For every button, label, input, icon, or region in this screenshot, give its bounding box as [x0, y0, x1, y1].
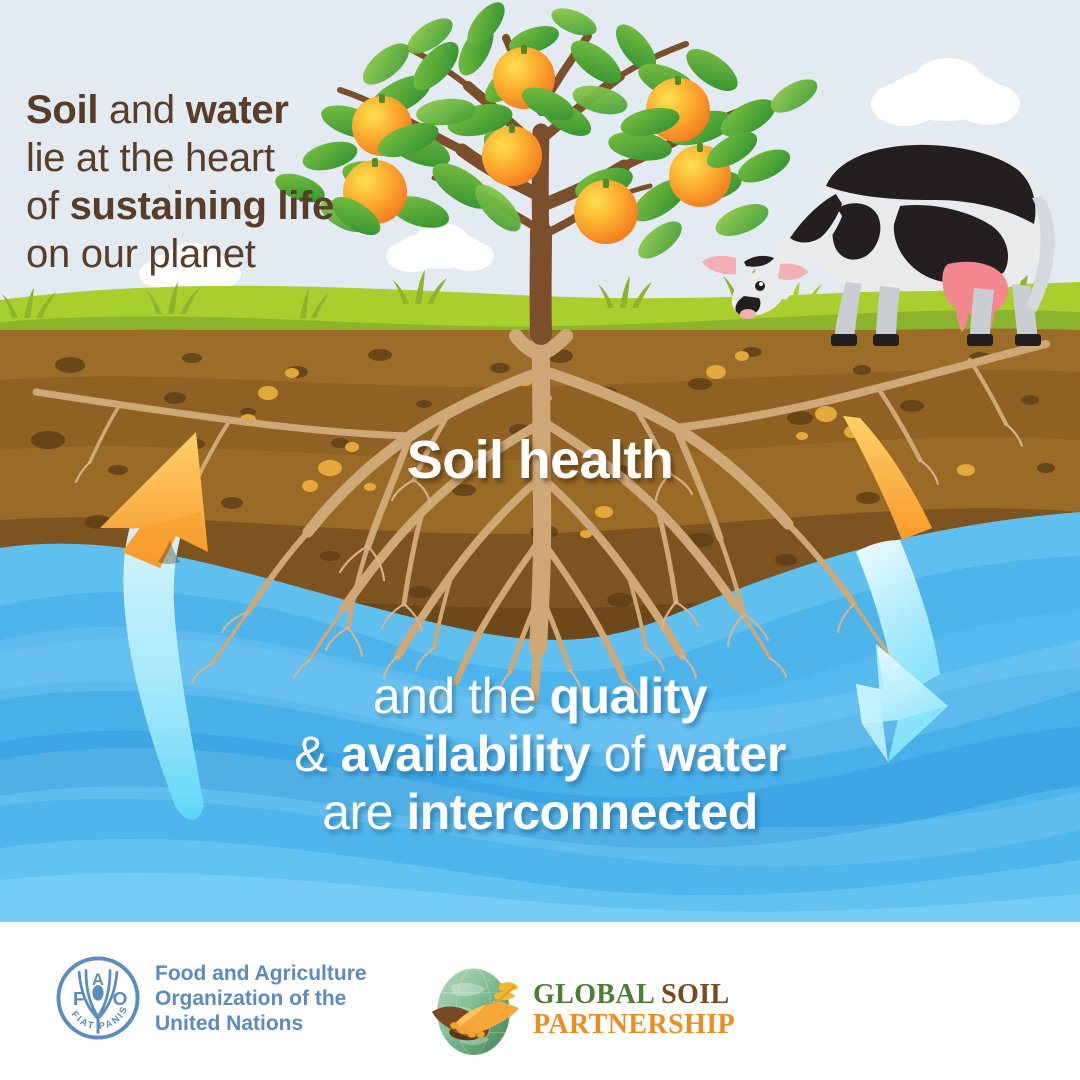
- soil-health-label: Soil health: [0, 429, 1080, 491]
- fao-wordmark-line-2: United Nations: [155, 1011, 367, 1036]
- svg-text:F: F: [73, 989, 85, 1010]
- water-caption-line-0: and the quality: [0, 667, 1080, 725]
- gsp-logo: GLOBAL SOIL PARTNERSHIP: [425, 958, 735, 1062]
- gsp-globe-handshake-icon: [425, 958, 529, 1062]
- headline-line-3: on our planet: [26, 230, 426, 278]
- fao-wordmark-line-0: Food and Agriculture: [155, 961, 367, 986]
- fao-wordmark-line-1: Organization of the: [155, 986, 367, 1011]
- water-caption-line-2: are interconnected: [0, 783, 1080, 841]
- svg-text:A: A: [92, 971, 104, 989]
- water-caption-line-1: & availability of water: [0, 725, 1080, 783]
- gsp-word-global: GLOBAL: [533, 979, 654, 1010]
- headline-line-2: of sustaining life: [26, 182, 426, 230]
- footer-logo-bar: F A O FIAT PANIS Food and AgricultureOrg…: [0, 922, 1080, 1080]
- gsp-wordmark: GLOBAL SOIL PARTNERSHIP: [533, 980, 735, 1040]
- water-caption-text: and the quality& availability of waterar…: [0, 667, 1080, 841]
- gsp-word-partnership: PARTNERSHIP: [533, 1009, 735, 1040]
- fao-emblem-icon: F A O FIAT PANIS: [55, 955, 141, 1041]
- fao-wordmark: Food and AgricultureOrganization of theU…: [155, 961, 367, 1036]
- illustration-scene: Soil and waterlie at the heartof sustain…: [0, 0, 1080, 922]
- gsp-word-soil: SOIL: [661, 979, 730, 1010]
- infographic-poster: Soil and waterlie at the heartof sustain…: [0, 0, 1080, 1080]
- headline-line-0: Soil and water: [26, 86, 426, 134]
- headline-text: Soil and waterlie at the heartof sustain…: [26, 86, 426, 278]
- fao-logo: F A O FIAT PANIS Food and AgricultureOrg…: [55, 955, 367, 1041]
- headline-line-1: lie at the heart: [26, 134, 426, 182]
